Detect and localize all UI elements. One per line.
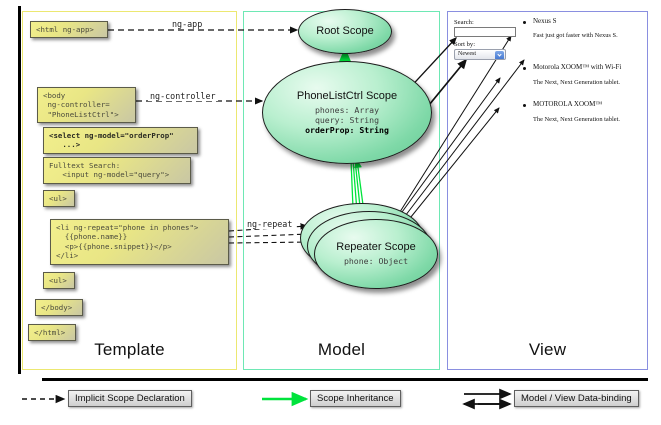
code-box-ul-close: <ul> xyxy=(43,272,75,289)
legend-item-implicit-scope-declaration: Implicit Scope Declaration xyxy=(68,390,192,407)
prop-orderprop: orderProp: String xyxy=(305,125,389,135)
code-box-select: <select ng-model="orderProp" ...> xyxy=(43,127,198,154)
legend-item-model-view-data-binding: Model / View Data-binding xyxy=(514,390,639,407)
panel-label-model: Model xyxy=(243,340,440,360)
scope-repeater: Repeater Scope phone: Object xyxy=(314,219,438,289)
view-search-label: Search: xyxy=(454,19,474,26)
code-box-html-open: <html ng-app> xyxy=(30,21,108,38)
view-phone-name-1[interactable]: Nexus S xyxy=(533,17,557,25)
list-bullet-icon xyxy=(523,104,526,107)
code-box-body-close: </body> xyxy=(35,299,83,316)
scope-repeater-title: Repeater Scope xyxy=(336,241,416,254)
code-box-fulltext-search: Fulltext Search: <input ng-model="query"… xyxy=(43,157,191,184)
frame-left-rule xyxy=(18,6,21,374)
prop-query: query: String xyxy=(315,115,379,125)
view-phone-name-3[interactable]: MOTOROLA XOOM™ xyxy=(533,100,602,108)
scope-phonelistctrl-title: PhoneListCtrl Scope xyxy=(297,90,397,103)
scope-root: Root Scope xyxy=(298,9,392,54)
edge-label-ng-repeat: ng-repeat xyxy=(245,219,294,229)
panel-label-view: View xyxy=(447,340,648,360)
view-sort-label: Sort by: xyxy=(454,41,475,48)
scope-phonelistctrl-props: phones: Array query: String orderProp: S… xyxy=(305,106,389,135)
list-bullet-icon xyxy=(523,67,526,70)
view-search-input[interactable] xyxy=(454,27,516,37)
view-sort-select[interactable]: Newest xyxy=(454,49,506,60)
diagram-canvas: Template Model View xyxy=(0,0,661,425)
scope-phonelistctrl: PhoneListCtrl Scope phones: Array query:… xyxy=(262,61,432,164)
edge-label-ng-controller: ng-controller xyxy=(148,91,218,101)
panel-label-template: Template xyxy=(22,340,237,360)
code-box-body-open: <body ng-controller= "PhoneListCtrl"> xyxy=(37,87,136,123)
code-box-ul-open: <ul> xyxy=(43,190,75,207)
prop-phones: phones: Array xyxy=(315,105,379,115)
code-box-html-close: </html> xyxy=(28,324,76,341)
scope-root-title: Root Scope xyxy=(316,25,373,38)
code-box-li-ng-repeat: <li ng-repeat="phone in phones"> {{phone… xyxy=(50,219,229,265)
legend-item-scope-inheritance: Scope Inheritance xyxy=(310,390,401,407)
view-phone-snippet-2: The Next, Next Generation tablet. xyxy=(533,79,620,86)
view-phone-snippet-1: Fast just got faster with Nexus S. xyxy=(533,32,618,39)
view-phone-name-2[interactable]: Motorola XOOM™ with Wi-Fi xyxy=(533,63,621,71)
list-bullet-icon xyxy=(523,21,526,24)
view-phone-snippet-3: The Next, Next Generation tablet. xyxy=(533,116,620,123)
scope-repeater-props: phone: Object xyxy=(344,257,408,267)
edge-label-ng-app: ng-app xyxy=(170,19,204,29)
chevron-down-icon xyxy=(495,51,504,60)
view-sort-select-value: Newest xyxy=(458,51,476,57)
